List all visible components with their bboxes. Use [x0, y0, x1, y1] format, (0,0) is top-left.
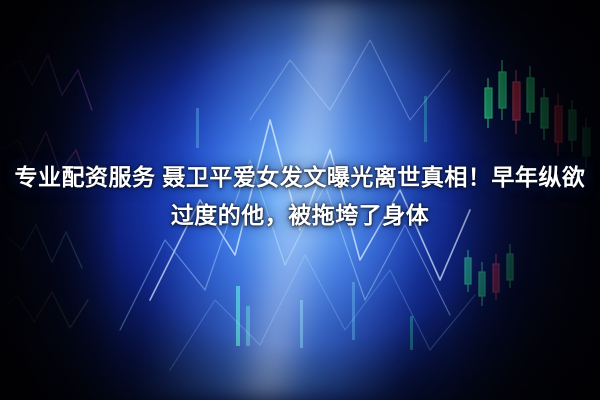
headline-text: 专业配资服务 聂卫平爱女发文曝光离世真相！早年纵欲过度的他，被拖垮了身体: [0, 158, 600, 234]
image-canvas: 专业配资服务 聂卫平爱女发文曝光离世真相！早年纵欲过度的他，被拖垮了身体: [0, 0, 600, 400]
